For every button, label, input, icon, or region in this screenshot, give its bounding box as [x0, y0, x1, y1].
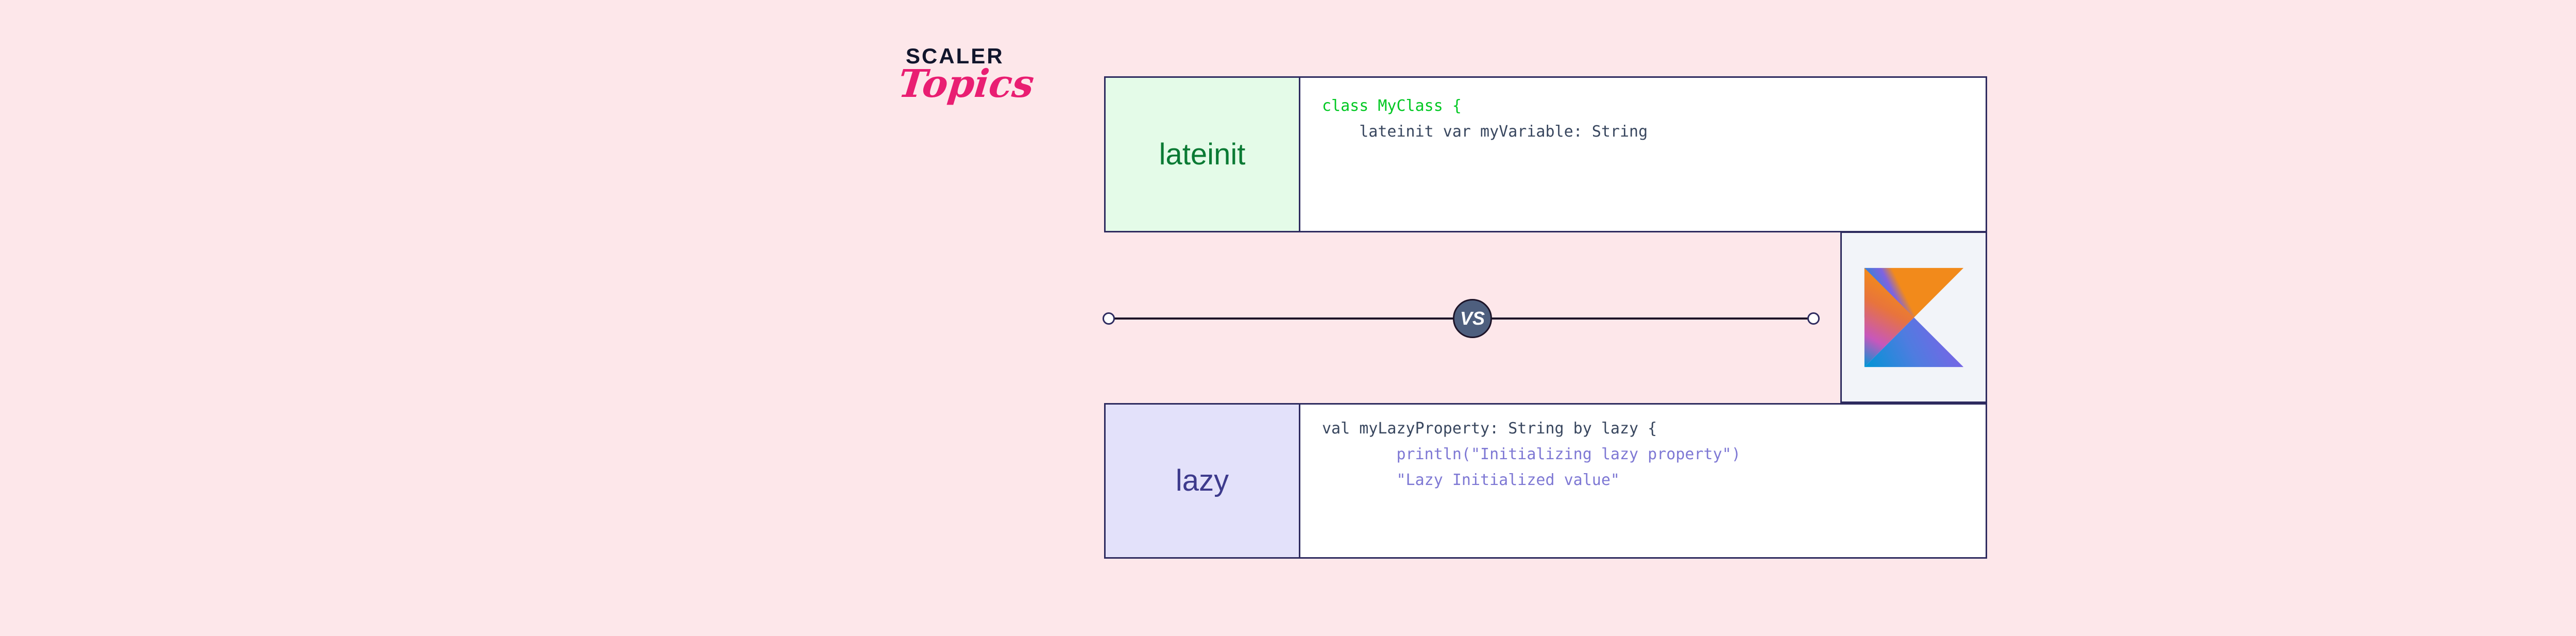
connector-endpoint-left-icon: [1103, 312, 1115, 325]
brand-wordmark-topics: Topics: [896, 65, 1036, 103]
scaler-topics-logo: SCALER Topics: [899, 45, 1022, 128]
panel-lateinit: lateinit class MyClass { lateinit var my…: [1104, 76, 1987, 232]
versus-badge: VS: [1453, 299, 1492, 338]
kotlin-logo-box: [1840, 231, 1987, 403]
panel-lateinit-code: class MyClass { lateinit var myVariable:…: [1300, 78, 1986, 231]
kotlin-logo-icon: [1861, 264, 1967, 371]
code-line: class MyClass {: [1322, 97, 1462, 115]
code-line: "Lazy Initialized value": [1322, 471, 1620, 489]
panel-lazy: lazy val myLazyProperty: String by lazy …: [1104, 403, 1987, 559]
panel-lateinit-label: lateinit: [1106, 78, 1300, 231]
connector-endpoint-right-icon: [1807, 312, 1820, 325]
code-line: lateinit var myVariable: String: [1322, 123, 1648, 141]
panel-lazy-code: val myLazyProperty: String by lazy { pri…: [1300, 405, 1986, 557]
panel-lazy-label: lazy: [1106, 405, 1300, 557]
code-line: val myLazyProperty: String by lazy {: [1322, 420, 1657, 438]
code-line: println("Initializing lazy property"): [1322, 445, 1741, 463]
